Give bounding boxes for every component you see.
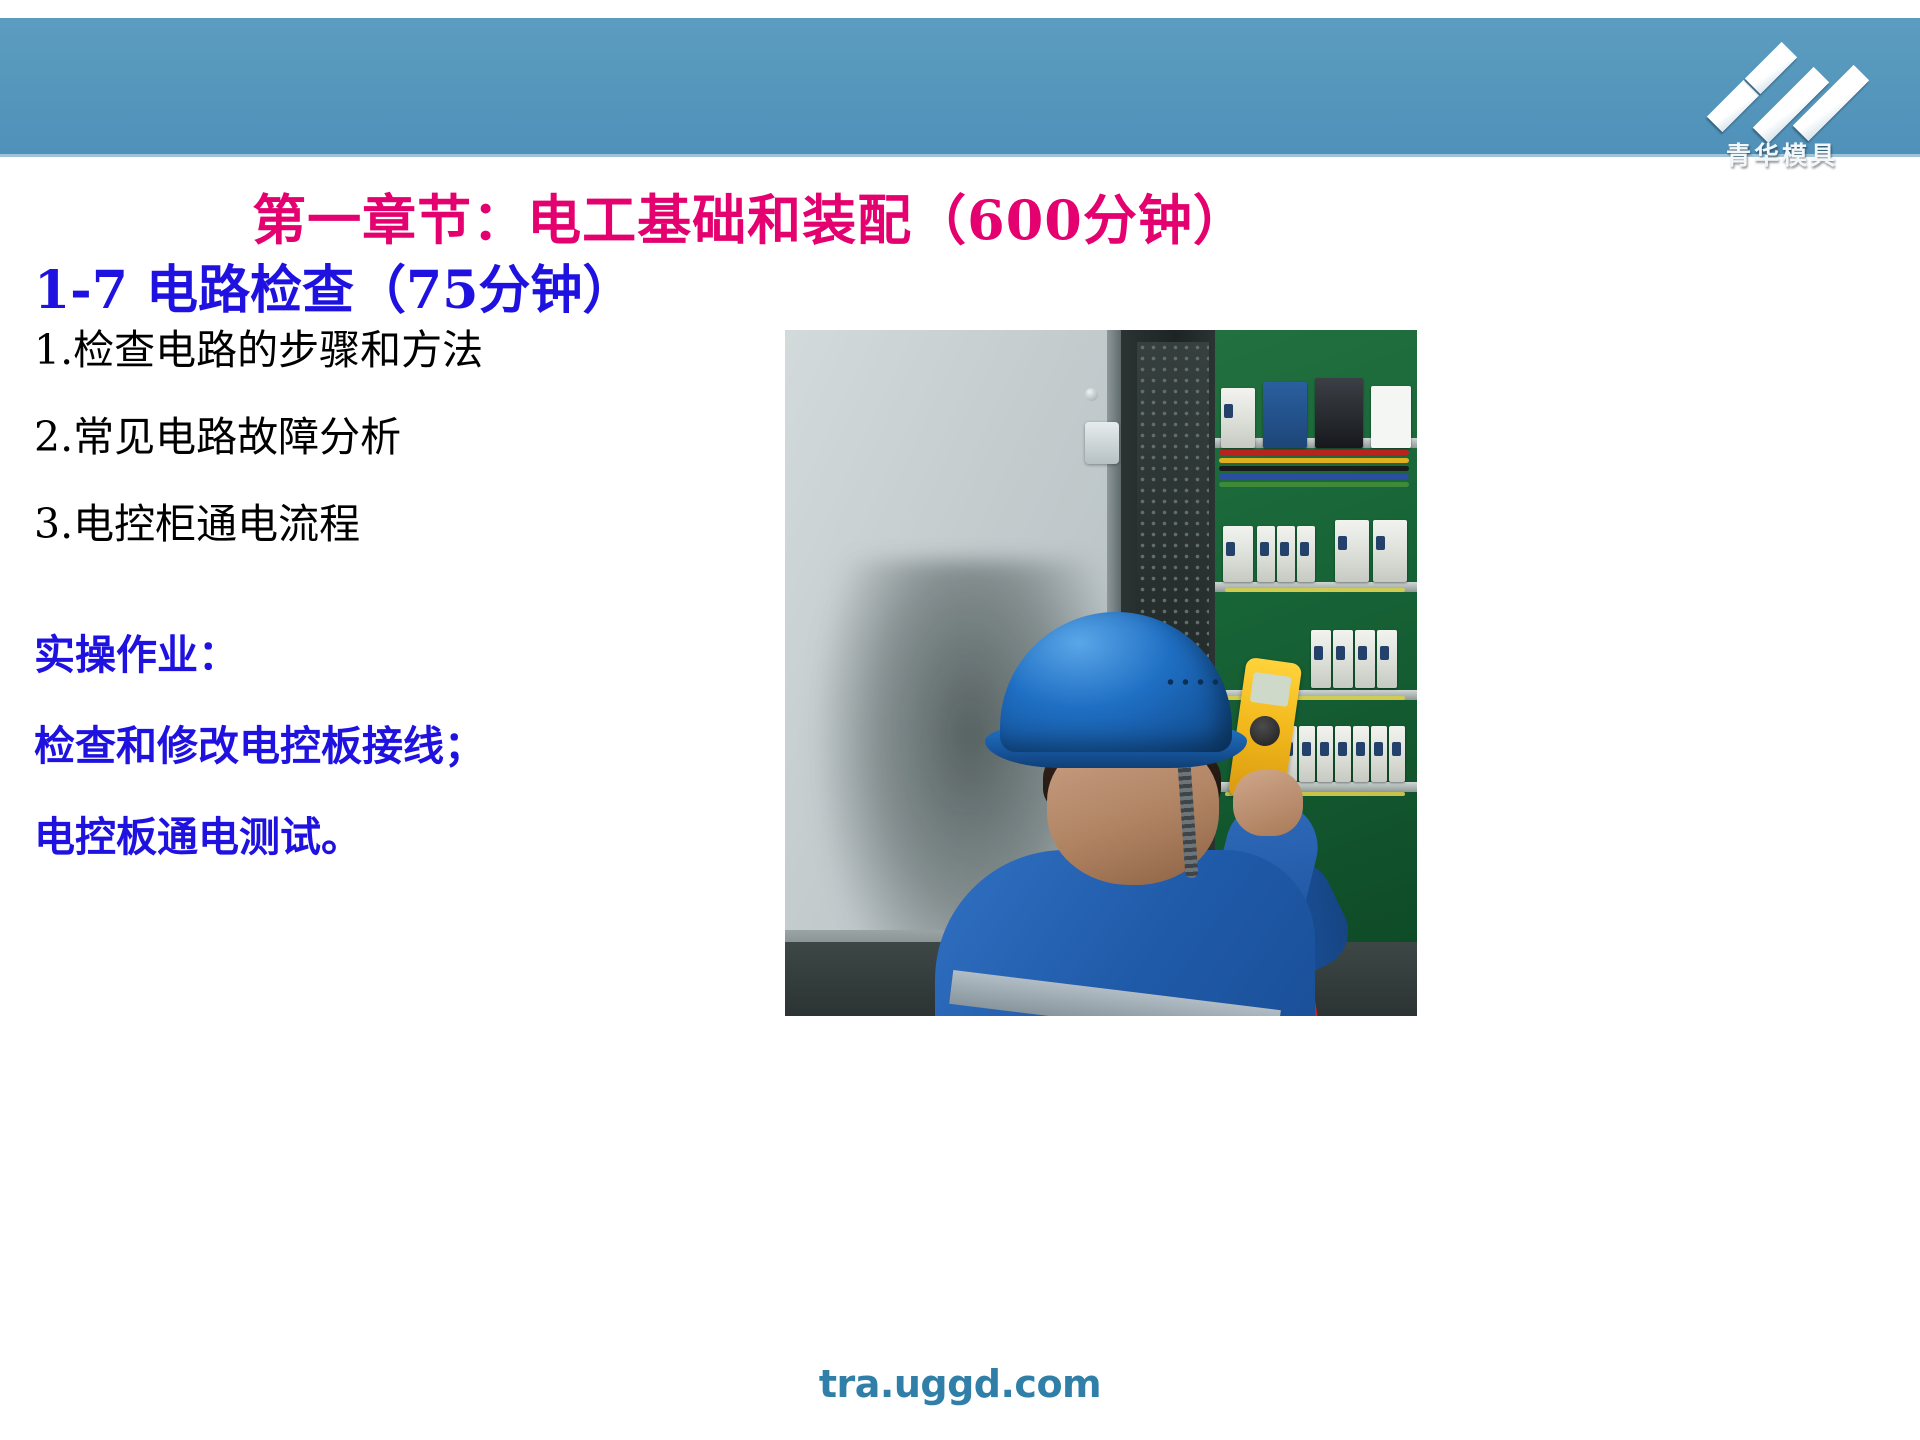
circuit-breaker — [1223, 526, 1253, 582]
cabinet-latch — [1085, 422, 1119, 464]
circuit-breaker — [1333, 630, 1353, 688]
wire-black — [1219, 466, 1409, 471]
header-bar: 青华模具 — [0, 18, 1920, 157]
practice-item: 电控板通电测试。 — [34, 817, 754, 858]
cabinet-handle-icon — [1085, 388, 1098, 401]
wire-green-yellow — [1219, 482, 1409, 487]
circuit-breaker — [1317, 726, 1333, 782]
footer-url[interactable]: tra.uggd.com — [0, 1362, 1920, 1406]
practice-item: 检查和修改电控板接线； — [34, 726, 754, 767]
circuit-breaker — [1257, 526, 1275, 582]
circuit-breaker — [1371, 726, 1387, 782]
circuit-breaker — [1355, 630, 1375, 688]
wire-yellow — [1225, 588, 1405, 592]
circuit-breaker — [1389, 726, 1405, 782]
list-item: 1.检查电路的步骤和方法 — [34, 330, 734, 371]
logo-bar-1 — [1707, 80, 1759, 132]
practice-assignment-block: 实操作业： 检查和修改电控板接线； 电控板通电测试。 — [34, 635, 754, 908]
list-item: 2.常见电路故障分析 — [34, 417, 734, 458]
circuit-breaker — [1377, 630, 1397, 688]
circuit-breaker — [1277, 526, 1295, 582]
contactor — [1315, 378, 1363, 448]
objective-list: 1.检查电路的步骤和方法 2.常见电路故障分析 3.电控柜通电流程 — [34, 330, 734, 591]
diagonal-bars-icon — [1704, 32, 1864, 136]
wire-red — [1219, 450, 1409, 455]
electrical-cabinet-photo — [785, 330, 1417, 1016]
company-logo: 青华模具 — [1652, 30, 1912, 178]
circuit-breaker — [1335, 520, 1369, 582]
circuit-breaker — [1299, 726, 1315, 782]
relay-module — [1263, 382, 1307, 448]
circuit-breaker — [1353, 726, 1369, 782]
list-item: 3.电控柜通电流程 — [34, 504, 734, 545]
logo-bar-2 — [1745, 42, 1797, 94]
terminal-block — [1371, 386, 1411, 448]
page-title: 第一章节：电工基础和装配（600分钟） — [0, 176, 1500, 255]
hard-hat-vents — [1163, 678, 1225, 686]
circuit-breaker — [1311, 630, 1331, 688]
section-subtitle: 1-7 电路检查（75分钟） — [34, 248, 634, 323]
circuit-breaker — [1335, 726, 1351, 782]
company-name: 青华模具 — [1652, 136, 1912, 172]
worker-hand — [1233, 770, 1303, 836]
wire-yellow — [1219, 458, 1409, 463]
circuit-breaker — [1221, 388, 1255, 448]
wire-blue — [1219, 474, 1409, 479]
practice-heading: 实操作业： — [34, 635, 754, 676]
circuit-breaker — [1297, 526, 1315, 582]
circuit-breaker — [1373, 520, 1407, 582]
